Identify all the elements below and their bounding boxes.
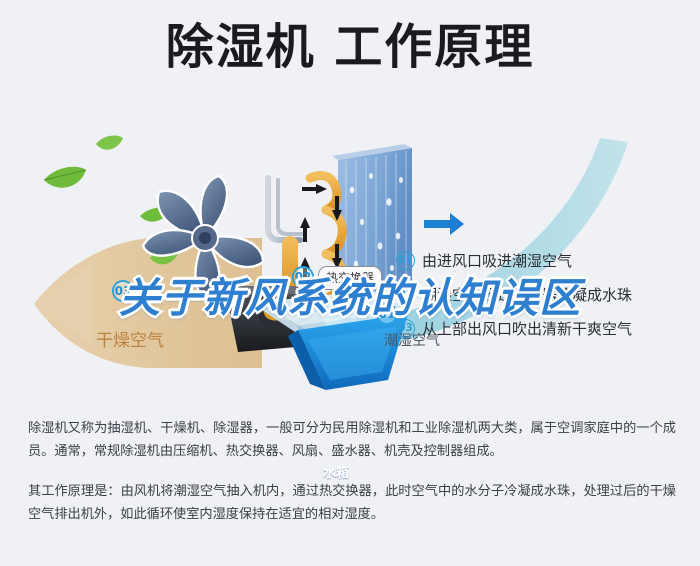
step-label: 从上部出风口吹出清新干爽空气: [422, 318, 632, 339]
diagram-badge-01: 01: [376, 303, 398, 325]
label-dry-air: 干燥空气: [96, 326, 164, 351]
page-title: 除湿机 工作原理: [0, 22, 700, 72]
step-number-badge: 01: [396, 251, 415, 270]
callout-heat-exchanger: 热交换器: [318, 266, 382, 290]
process-step: 03 从上部出风口吹出清新干爽空气: [396, 311, 696, 345]
step-label: 潮湿空气经过蒸发器冷凝成水珠: [422, 284, 632, 305]
article-body: 除湿机又称为抽湿机、干燥机、除湿器，一般可分为民用除湿机和工业除湿机两大类，属于…: [28, 418, 676, 527]
process-step: 01 由进风口吸进潮湿空气: [396, 243, 696, 277]
leaf-icon-2: [96, 136, 123, 150]
page-title-text: 除湿机 工作原理: [166, 22, 535, 72]
step-number-badge: 03: [396, 319, 415, 338]
process-step-list: 01 由进风口吸进潮湿空气 02 潮湿空气经过蒸发器冷凝成水珠 03 从上部出风…: [396, 243, 696, 345]
step-number-badge: 02: [396, 285, 415, 304]
dehumidifier-principle-page: 除湿机 工作原理: [0, 0, 700, 566]
diagram-badge-03: 03: [112, 280, 134, 302]
step-label: 由进风口吸进潮湿空气: [422, 250, 572, 271]
inlet-arrow: [424, 213, 464, 235]
process-step: 02 潮湿空气经过蒸发器冷凝成水珠: [396, 277, 696, 311]
leaf-icon: [44, 167, 86, 188]
diagram-badge-02: 02: [292, 266, 314, 288]
body-paragraph-2: 其工作原理是：由风机将潮湿空气抽入机内，通过热交换器，此时空气中的水分子冷凝成水…: [28, 481, 676, 526]
body-paragraph-1: 除湿机又称为抽湿机、干燥机、除湿器，一般可分为民用除湿机和工业除湿机两大类，属于…: [28, 418, 676, 463]
